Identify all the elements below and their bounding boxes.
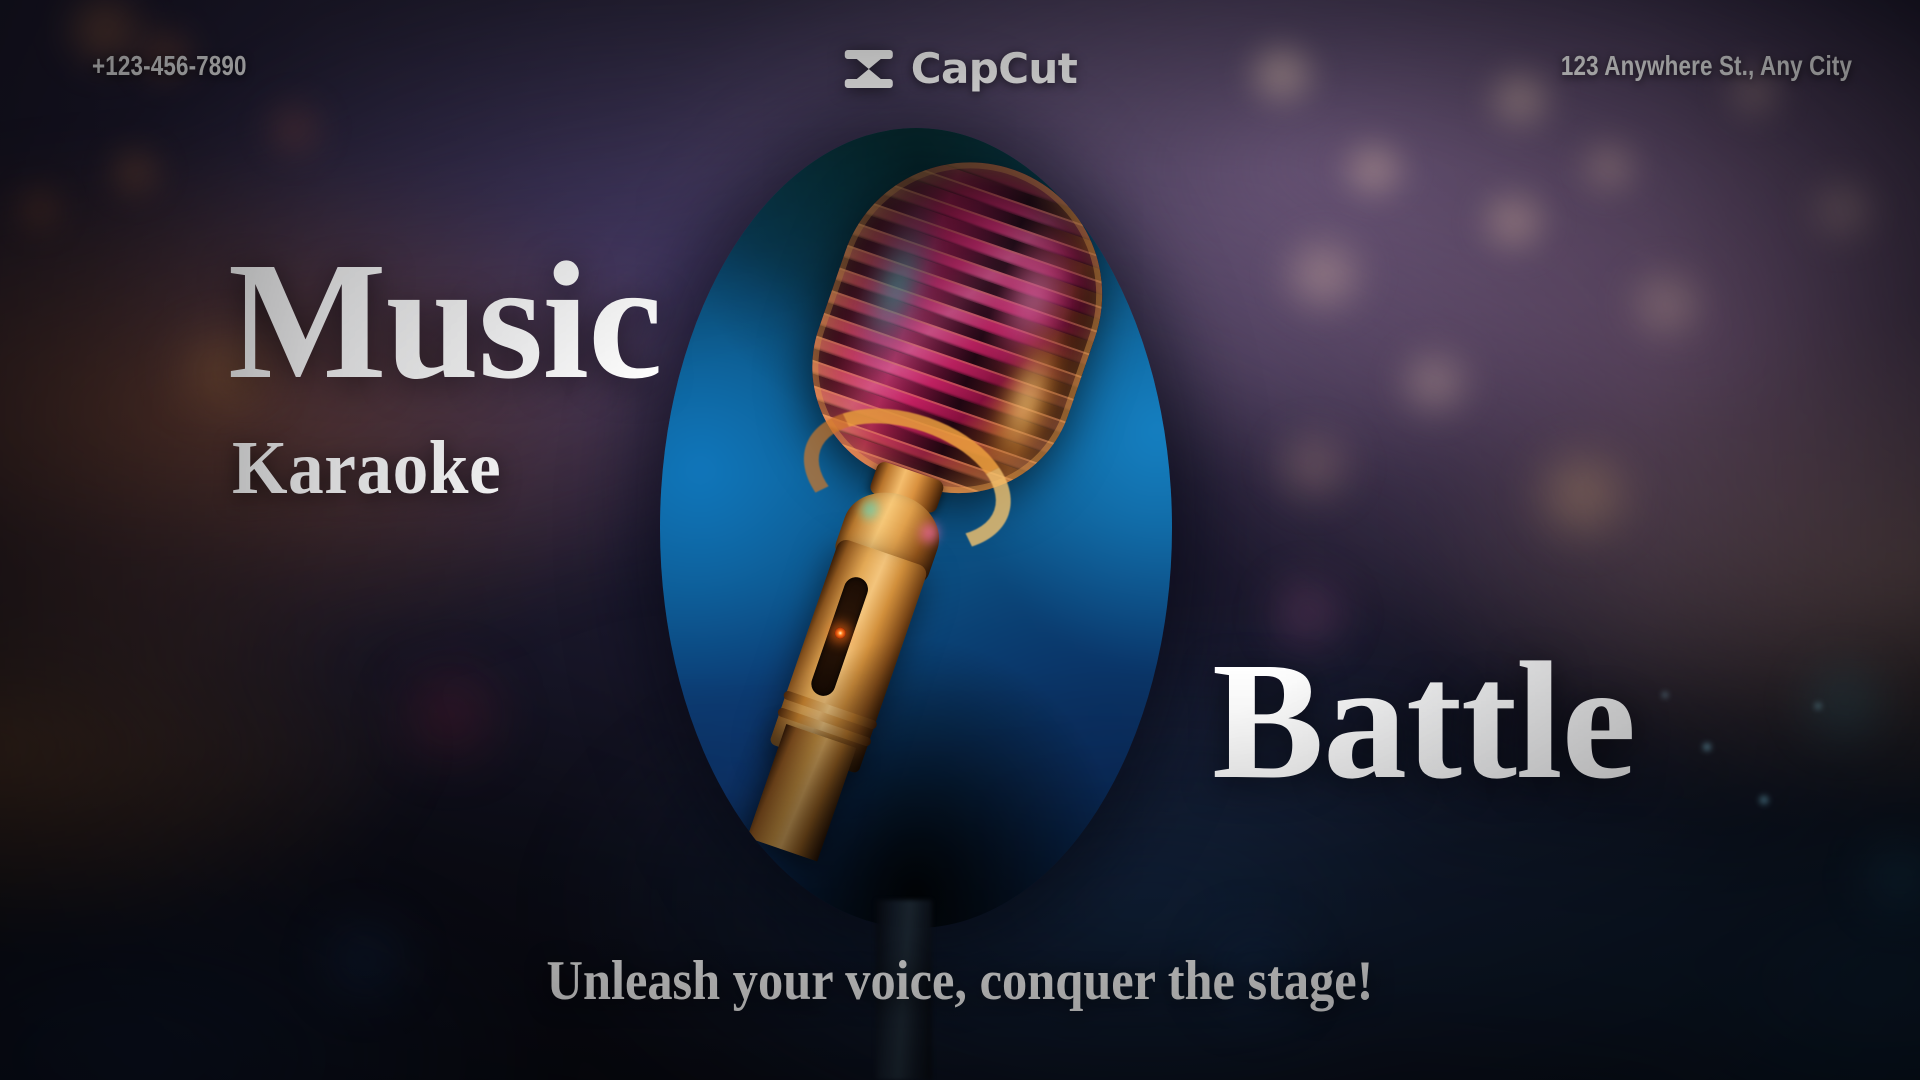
background-vignette bbox=[0, 0, 1920, 1080]
poster-canvas: +123-456-7890 123 Anywhere St., Any City… bbox=[0, 0, 1920, 1080]
